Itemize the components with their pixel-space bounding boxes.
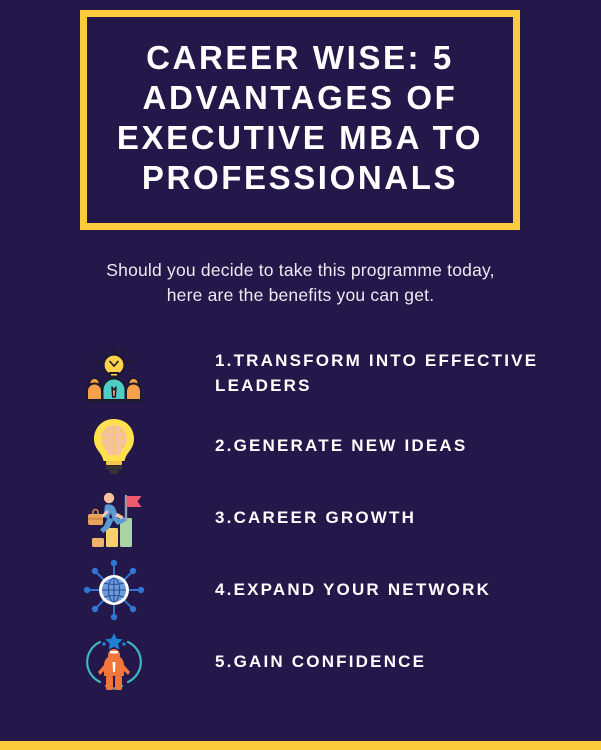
subtitle: Should you decide to take this programme… (50, 258, 551, 309)
confident-person-star-icon (82, 630, 146, 694)
list-item: 2.GENERATE NEW IDEAS (0, 410, 601, 482)
list-item: 3.CAREER GROWTH (0, 482, 601, 554)
subtitle-line-2: here are the benefits you can get. (50, 283, 551, 308)
lightbulb-brain-icon (82, 414, 146, 478)
page-title: Career Wise: 5 Advantages of Executive M… (87, 38, 513, 199)
list-item-label: 2.GENERATE NEW IDEAS (215, 434, 575, 459)
team-lightbulb-icon (82, 342, 146, 406)
network-globe-icon (82, 558, 146, 622)
career-growth-stairs-icon (82, 486, 146, 550)
list-item-label: 3.CAREER GROWTH (215, 506, 575, 531)
list-item-label: 5.GAIN CONFIDENCE (215, 650, 575, 675)
list-item-label: 4.EXPAND YOUR NETWORK (215, 578, 575, 603)
poster-canvas: Career Wise: 5 Advantages of Executive M… (0, 0, 601, 750)
list-item: 1.TRANSFORM INTO EFFECTIVE LEADERS (0, 338, 601, 410)
title-frame: Career Wise: 5 Advantages of Executive M… (80, 10, 520, 230)
subtitle-line-1: Should you decide to take this programme… (50, 258, 551, 283)
benefits-list: 1.TRANSFORM INTO EFFECTIVE LEADERS (0, 338, 601, 698)
footer-accent-bar (0, 741, 601, 750)
list-item: 4.EXPAND YOUR NETWORK (0, 554, 601, 626)
list-item: 5.GAIN CONFIDENCE (0, 626, 601, 698)
list-item-label: 1.TRANSFORM INTO EFFECTIVE LEADERS (215, 349, 575, 398)
